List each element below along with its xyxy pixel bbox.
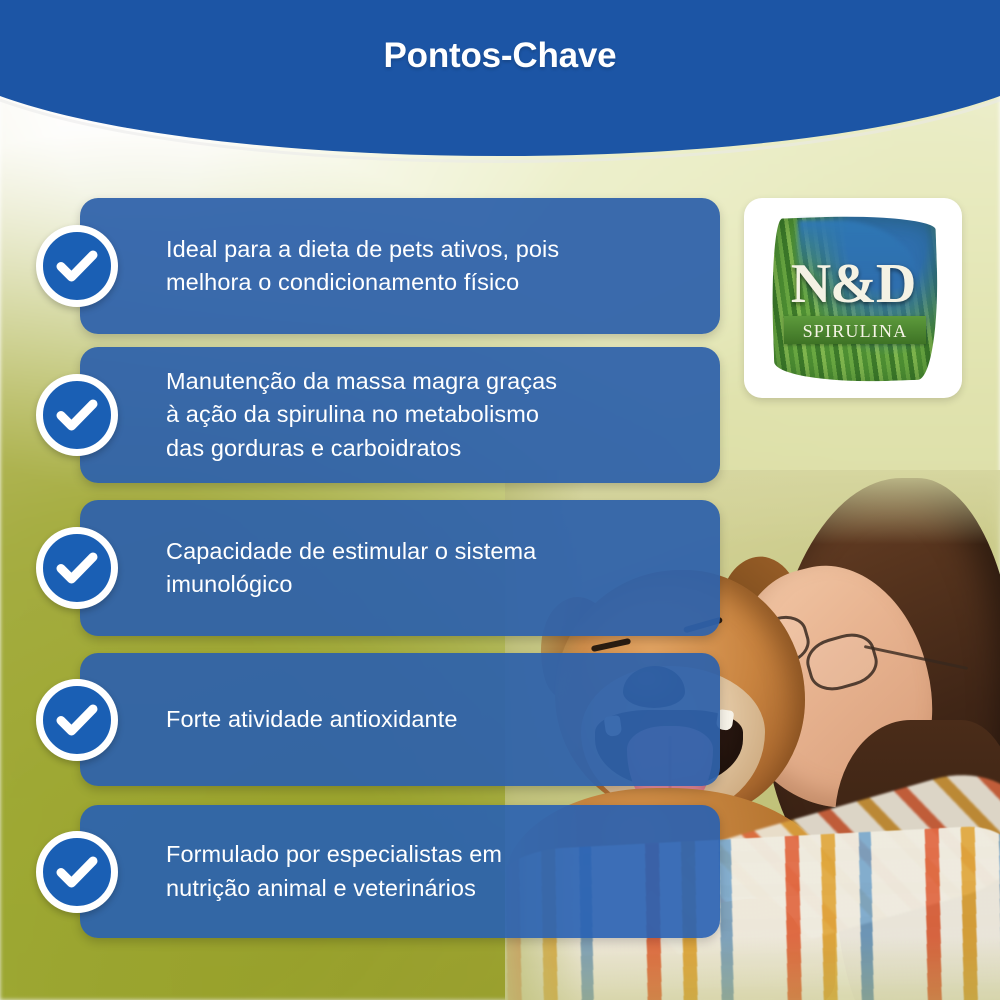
brand-name: N&D [744, 256, 962, 312]
nd-spirulina-logo-card: N&D SPIRULINA [744, 198, 962, 398]
key-points-list: Ideal para a dieta de pets ativos, pois … [0, 0, 1000, 1000]
bullet-card-2[interactable]: Manutenção da massa magra graças à ação … [80, 347, 720, 483]
check-icon [36, 225, 118, 307]
check-icon [36, 831, 118, 913]
poster-stage: Pontos-Chave Ideal para a dieta de pets … [0, 0, 1000, 1000]
bullet-card-1[interactable]: Ideal para a dieta de pets ativos, pois … [80, 198, 720, 334]
bullet-card-5[interactable]: Formulado por especialistas em nutrição … [80, 805, 720, 938]
bullet-text-4: Forte atividade antioxidante [80, 703, 484, 736]
check-icon [36, 679, 118, 761]
brand-sub-label: SPIRULINA [784, 317, 926, 345]
bullet-text-3: Capacidade de estimular o sistema imunol… [80, 535, 562, 602]
bullet-text-1: Ideal para a dieta de pets ativos, pois … [80, 233, 585, 300]
bullet-card-4[interactable]: Forte atividade antioxidante [80, 653, 720, 786]
bullet-text-2: Manutenção da massa magra graças à ação … [80, 365, 583, 465]
bullet-text-5: Formulado por especialistas em nutrição … [80, 838, 528, 905]
check-icon [36, 527, 118, 609]
check-icon [36, 374, 118, 456]
bullet-card-3[interactable]: Capacidade de estimular o sistema imunol… [80, 500, 720, 636]
